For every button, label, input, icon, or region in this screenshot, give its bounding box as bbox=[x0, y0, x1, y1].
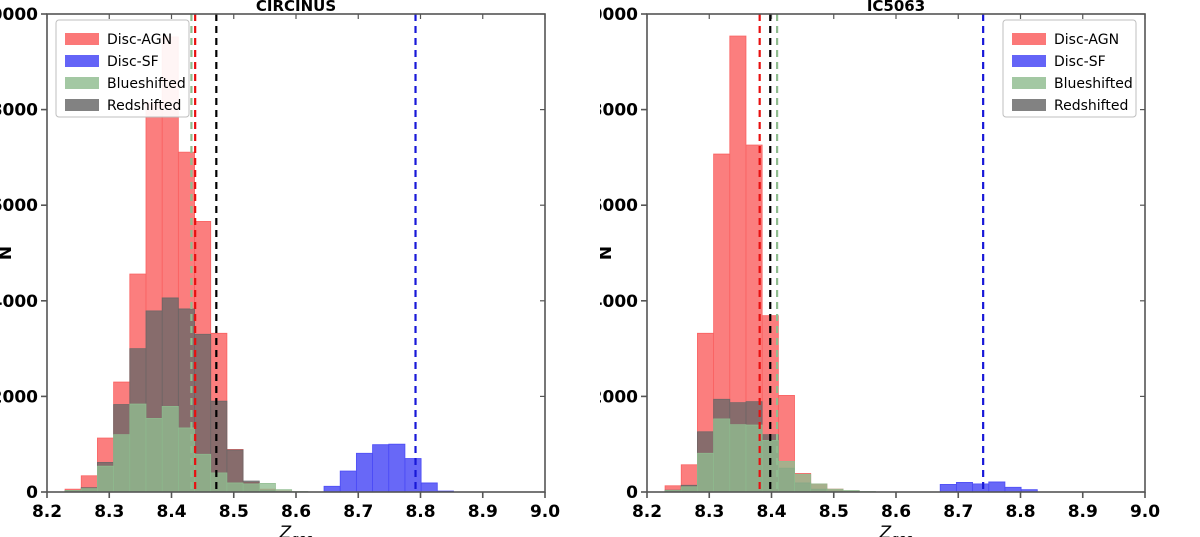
xtick-label: 8.3 bbox=[94, 502, 124, 522]
legend-swatch-disc-agn bbox=[65, 33, 99, 45]
xtick-label: 8.3 bbox=[694, 502, 724, 522]
legend-label-disc-agn: Disc-AGN bbox=[1054, 32, 1119, 48]
ytick-label: 10000 bbox=[600, 5, 638, 25]
legend-label-redshifted: Redshifted bbox=[1054, 98, 1128, 114]
ytick-label: 6000 bbox=[0, 196, 38, 216]
ytick-label: 6000 bbox=[600, 196, 638, 216]
xtick-label: 8.4 bbox=[756, 502, 786, 522]
xaxis-label: Zgas bbox=[879, 523, 913, 537]
xtick-label: 8.4 bbox=[156, 502, 186, 522]
plot-svg-right: 8.28.38.48.58.68.78.88.99.00200040006000… bbox=[600, 0, 1200, 537]
legend-label-redshifted: Redshifted bbox=[107, 98, 181, 114]
xtick-label: 8.5 bbox=[219, 502, 249, 522]
panel-title: CIRCINUS bbox=[256, 0, 336, 15]
legend-swatch-disc-sf bbox=[1012, 55, 1046, 67]
ytick-label: 2000 bbox=[600, 387, 638, 407]
panel-title: IC5063 bbox=[867, 0, 925, 15]
legend-label-disc-sf: Disc-SF bbox=[1054, 54, 1106, 70]
ytick-label: 0 bbox=[26, 483, 38, 503]
panel-circinus: 8.28.38.48.58.68.78.88.99.00200040006000… bbox=[0, 0, 600, 537]
legend-label-blueshifted: Blueshifted bbox=[107, 76, 186, 92]
legend-swatch-redshifted bbox=[65, 99, 99, 111]
xtick-label: 8.6 bbox=[881, 502, 911, 522]
legend-swatch-blueshifted bbox=[65, 77, 99, 89]
xaxis-label-sub: gas bbox=[891, 532, 912, 537]
yaxis-label: N bbox=[600, 246, 616, 260]
xtick-label: 8.7 bbox=[943, 502, 973, 522]
ytick-label: 8000 bbox=[0, 101, 38, 121]
xtick-label: 8.8 bbox=[1005, 502, 1035, 522]
legend: Disc-AGNDisc-SFBlueshiftedRedshifted bbox=[56, 20, 189, 117]
xtick-label: 8.2 bbox=[32, 502, 62, 522]
figure-root: 8.28.38.48.58.68.78.88.99.00200040006000… bbox=[0, 0, 1200, 537]
xtick-label: 8.6 bbox=[281, 502, 311, 522]
ytick-label: 4000 bbox=[0, 292, 38, 312]
legend-swatch-disc-sf bbox=[65, 55, 99, 67]
xtick-label: 8.5 bbox=[819, 502, 849, 522]
xtick-label: 8.9 bbox=[468, 502, 498, 522]
xtick-label: 8.9 bbox=[1068, 502, 1098, 522]
ytick-label: 8000 bbox=[600, 101, 638, 121]
xtick-label: 8.7 bbox=[343, 502, 373, 522]
legend-swatch-redshifted bbox=[1012, 99, 1046, 111]
xtick-label: 8.8 bbox=[405, 502, 435, 522]
yaxis-label: N bbox=[0, 246, 16, 260]
legend-label-disc-sf: Disc-SF bbox=[107, 54, 159, 70]
legend-swatch-blueshifted bbox=[1012, 77, 1046, 89]
plot-svg-left: 8.28.38.48.58.68.78.88.99.00200040006000… bbox=[0, 0, 600, 537]
xaxis-label-sub: gas bbox=[291, 532, 312, 537]
legend: Disc-AGNDisc-SFBlueshiftedRedshifted bbox=[1003, 20, 1136, 117]
xtick-label: 9.0 bbox=[530, 502, 560, 522]
ytick-label: 2000 bbox=[0, 387, 38, 407]
xtick-label: 9.0 bbox=[1130, 502, 1160, 522]
xaxis-label: Zgas bbox=[279, 523, 313, 537]
ytick-label: 0 bbox=[626, 483, 638, 503]
legend-label-blueshifted: Blueshifted bbox=[1054, 76, 1133, 92]
panel-ic5063: 8.28.38.48.58.68.78.88.99.00200040006000… bbox=[600, 0, 1200, 537]
legend-label-disc-agn: Disc-AGN bbox=[107, 32, 172, 48]
ytick-label: 4000 bbox=[600, 292, 638, 312]
legend-swatch-disc-agn bbox=[1012, 33, 1046, 45]
xtick-label: 8.2 bbox=[632, 502, 662, 522]
ytick-label: 10000 bbox=[0, 5, 38, 25]
